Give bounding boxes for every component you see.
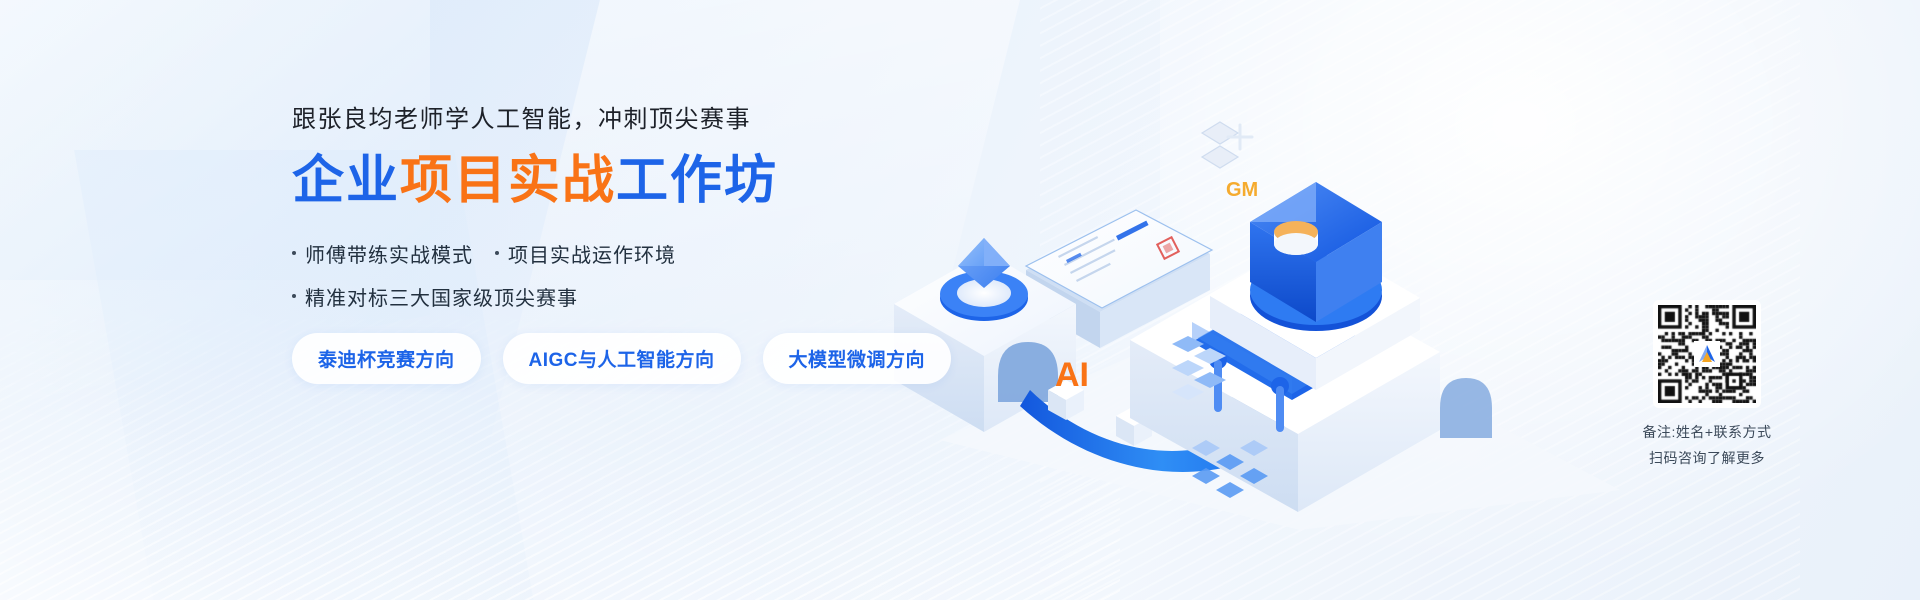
gm-label-icon: GM [1222, 168, 1268, 208]
svg-text:AI: AI [1055, 356, 1089, 394]
promo-banner: GM AI 跟张良均老师学人工智能，冲刺顶尖赛事 企业项目实战工作坊 [0, 0, 1920, 600]
svg-text:GM: GM [1226, 179, 1258, 201]
feature-bullet-list: 师傅带练实战模式 项目实战运作环境 精准对标三大国家级顶尖赛事 [292, 239, 932, 311]
bullet-label: 精准对标三大国家级顶尖赛事 [305, 282, 578, 311]
headline-segment-1: 企业 [292, 152, 400, 210]
qr-contact-block: 备注:姓名+联系方式 扫码咨询了解更多 [1612, 300, 1802, 472]
bullet-dot-icon [292, 251, 296, 255]
direction-tag-list: 泰迪杯竞赛方向 AIGC与人工智能方向 大模型微调方向 [292, 333, 932, 384]
bullet-label: 项目实战运作环境 [508, 239, 676, 268]
tag-llm-finetune[interactable]: 大模型微调方向 [763, 333, 952, 384]
banner-headline: 企业项目实战工作坊 [292, 151, 932, 212]
background-wash-right [1160, 0, 1920, 580]
headline-segment-3: 工作坊 [616, 152, 778, 210]
grid-tiles [1192, 440, 1268, 498]
capsule-icon [1270, 218, 1322, 264]
qr-center-logo [1694, 341, 1720, 367]
qr-caption-line-1: 备注:姓名+联系方式 [1612, 420, 1802, 446]
certificate-card [1026, 210, 1212, 348]
qr-caption: 备注:姓名+联系方式 扫码咨询了解更多 [1612, 420, 1802, 472]
headline-segment-2: 项目实战 [400, 152, 616, 210]
plus-badge-icon [1218, 115, 1262, 159]
qr-code[interactable] [1653, 300, 1761, 408]
bullet-item: 师傅带练实战模式 [292, 239, 473, 268]
tag-aigc-ai[interactable]: AIGC与人工智能方向 [503, 333, 741, 384]
banner-text-column: 跟张良均老师学人工智能，冲刺顶尖赛事 企业项目实战工作坊 师傅带练实战模式 项目… [292, 104, 932, 384]
bullet-row-1: 师傅带练实战模式 项目实战运作环境 [292, 239, 932, 268]
bullet-row-2: 精准对标三大国家级顶尖赛事 [292, 282, 932, 311]
tag-taidi-cup[interactable]: 泰迪杯竞赛方向 [292, 333, 481, 384]
bullet-label: 师傅带练实战模式 [305, 239, 473, 268]
qr-caption-line-2: 扫码咨询了解更多 [1612, 446, 1802, 472]
ai-label-icon: AI [1053, 348, 1109, 400]
bullet-item: 项目实战运作环境 [495, 239, 676, 268]
bullet-item: 精准对标三大国家级顶尖赛事 [292, 282, 578, 311]
checker-tiles-icon [1170, 330, 1240, 400]
tipdm-triangle-logo-icon [1696, 343, 1718, 365]
banner-subtitle: 跟张良均老师学人工智能，冲刺顶尖赛事 [292, 104, 932, 135]
bullet-dot-icon [495, 251, 499, 255]
bullet-dot-icon [292, 294, 296, 298]
